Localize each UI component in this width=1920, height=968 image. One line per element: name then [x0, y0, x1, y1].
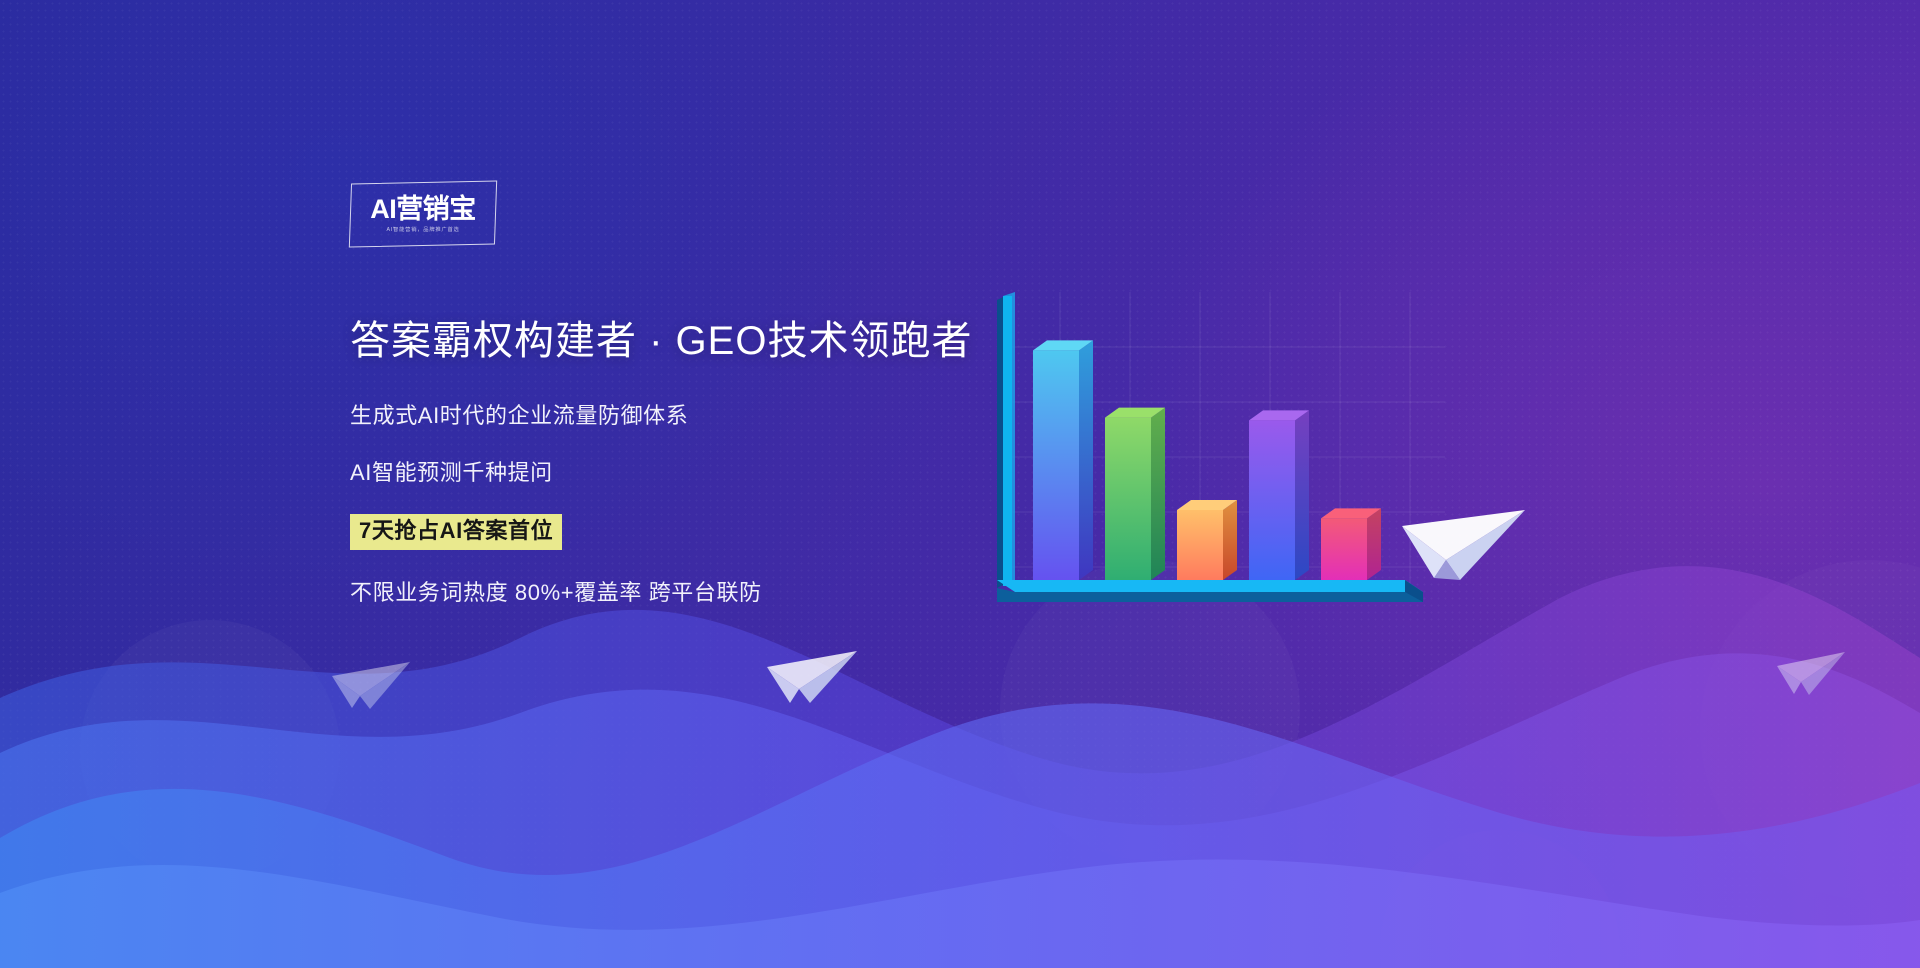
chart-bar — [1033, 340, 1093, 580]
wave-decoration — [0, 548, 1920, 968]
logo-wordmark: AI营销宝 — [370, 196, 476, 223]
chart-y-axis — [997, 292, 1015, 588]
chart-bar — [1321, 508, 1381, 580]
hero-banner: AI营销宝 AI智能营销，品牌推广首选 答案霸权构建者 · GEO技术领跑者 生… — [0, 0, 1920, 968]
hero-subline-4: 不限业务词热度 80%+覆盖率 跨平台联防 — [350, 580, 1050, 606]
chart-bar — [1105, 408, 1165, 580]
logo-tagline: AI智能营销，品牌推广首选 — [386, 225, 459, 233]
chart-base-platform — [997, 580, 1423, 602]
chart-bars — [1033, 340, 1381, 580]
hero-subline-1: 生成式AI时代的企业流量防御体系 — [350, 403, 1050, 429]
hero-subline-2: AI智能预测千种提问 — [350, 460, 1050, 486]
chart-bar — [1177, 500, 1237, 580]
chart-bar — [1249, 410, 1309, 580]
hero-highlight-badge: 7天抢占AI答案首位 — [350, 514, 562, 550]
hero-headline: 答案霸权构建者 · GEO技术领跑者 — [350, 318, 1050, 365]
brand-logo[interactable]: AI营销宝 AI智能营销，品牌推广首选 — [350, 182, 496, 246]
bar-chart-3d — [975, 292, 1445, 662]
hero-highlight-row: 7天抢占AI答案首位 — [350, 514, 1050, 550]
hero-copy-block: 答案霸权构建者 · GEO技术领跑者 生成式AI时代的企业流量防御体系 AI智能… — [350, 318, 1050, 607]
